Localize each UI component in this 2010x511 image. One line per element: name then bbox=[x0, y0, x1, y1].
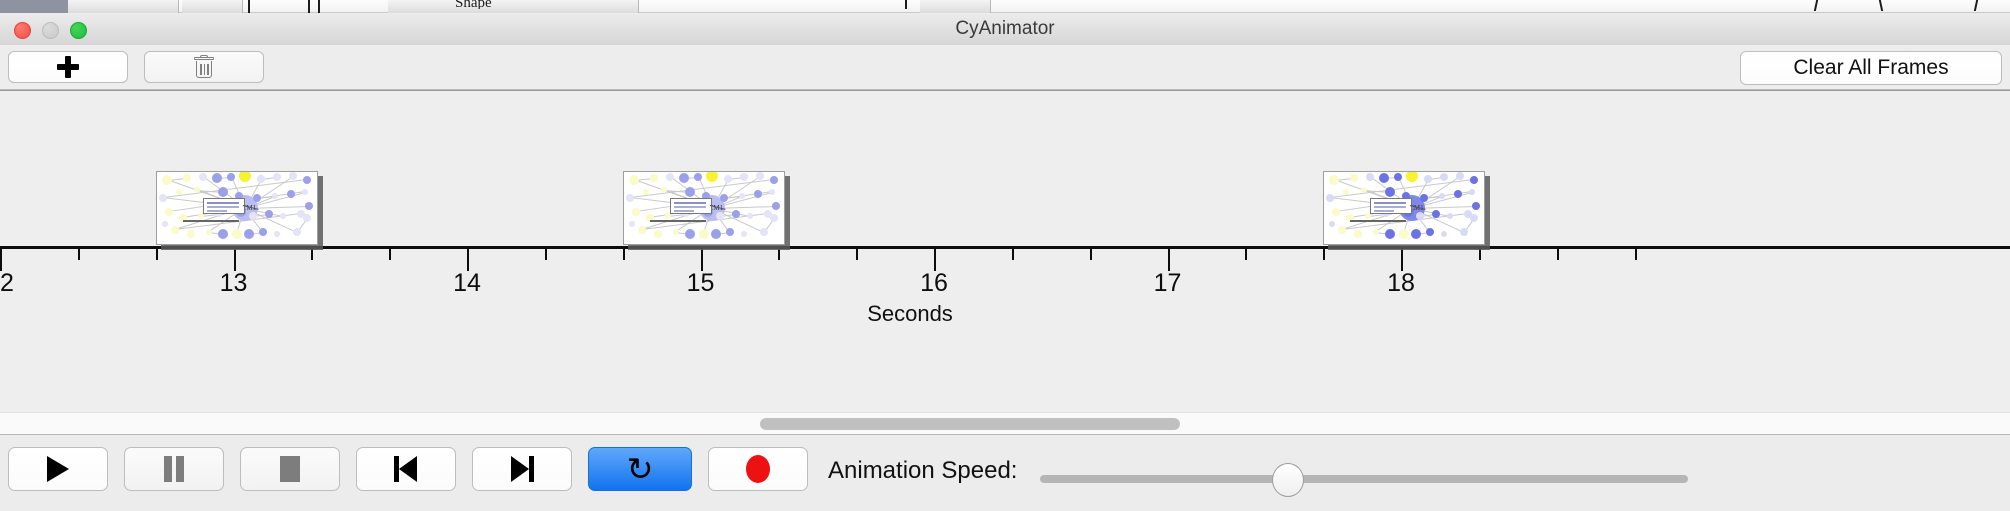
network-node bbox=[739, 193, 745, 199]
network-node bbox=[1440, 173, 1448, 181]
network-node bbox=[171, 226, 179, 234]
network-node bbox=[716, 212, 724, 220]
add-frame-button[interactable] bbox=[8, 51, 128, 83]
timeline-tick-minor bbox=[1479, 249, 1481, 260]
network-caption-line bbox=[650, 220, 706, 222]
network-node bbox=[232, 229, 242, 239]
network-node bbox=[194, 187, 200, 193]
network-node bbox=[1343, 189, 1349, 195]
network-node bbox=[747, 213, 753, 219]
background-window-cell-1 bbox=[68, 0, 179, 13]
background-window-tick-1 bbox=[248, 0, 250, 13]
network-node bbox=[187, 230, 195, 238]
background-window-gradient bbox=[0, 0, 2010, 13]
timeline-axis bbox=[0, 246, 2010, 249]
network-node bbox=[726, 228, 734, 236]
network-node bbox=[685, 187, 695, 197]
network-node bbox=[661, 187, 667, 193]
timeline-tick-minor bbox=[778, 249, 780, 260]
timeline-tick-minor bbox=[1012, 249, 1014, 260]
keyframe-thumbnail[interactable]: MCM1 bbox=[623, 171, 785, 245]
network-thumbnail-image: MCM1 bbox=[624, 172, 784, 244]
next-frame-button[interactable] bbox=[472, 447, 572, 491]
network-node bbox=[162, 221, 168, 227]
network-node bbox=[239, 171, 251, 182]
network-node bbox=[1426, 228, 1434, 236]
network-annotation-box bbox=[1370, 198, 1412, 214]
network-node bbox=[212, 173, 222, 183]
trash-icon bbox=[193, 55, 215, 79]
network-node bbox=[265, 210, 273, 218]
network-node bbox=[679, 173, 689, 183]
record-button[interactable] bbox=[708, 447, 808, 491]
timeline-tick-major bbox=[1168, 249, 1170, 271]
timeline-tick-minor bbox=[1323, 249, 1325, 260]
network-node bbox=[162, 175, 172, 185]
network-node bbox=[1332, 208, 1340, 216]
loop-button[interactable]: ↻ bbox=[588, 447, 692, 491]
timeline-tick-label: 17 bbox=[1154, 269, 1182, 298]
network-node bbox=[638, 226, 646, 234]
network-node bbox=[724, 175, 732, 183]
timeline-tick-minor bbox=[389, 249, 391, 260]
network-node bbox=[1379, 173, 1389, 183]
timeline-tick-minor bbox=[623, 249, 625, 260]
network-thumbnail-image: MCM1 bbox=[1324, 172, 1484, 244]
background-window-tick-3 bbox=[318, 0, 320, 13]
network-node bbox=[632, 208, 640, 216]
network-node bbox=[1470, 176, 1478, 184]
pause-icon bbox=[162, 456, 186, 482]
network-node bbox=[720, 194, 728, 202]
timeline-tick-major bbox=[701, 249, 703, 271]
network-node bbox=[302, 189, 308, 195]
network-node bbox=[629, 221, 635, 227]
network-node bbox=[218, 187, 228, 197]
loop-icon: ↻ bbox=[627, 453, 654, 485]
play-icon bbox=[47, 456, 69, 482]
clear-all-frames-button[interactable]: Clear All Frames bbox=[1740, 51, 2002, 85]
network-node bbox=[760, 228, 768, 236]
network-node bbox=[769, 189, 775, 195]
network-node bbox=[756, 172, 764, 180]
timeline-tick-minor bbox=[1090, 249, 1092, 260]
network-node bbox=[1406, 171, 1418, 182]
cyanimator-window: Shape CyAnimator Clear All Frames 121314… bbox=[0, 0, 2010, 510]
previous-frame-button[interactable] bbox=[356, 447, 456, 491]
network-node bbox=[218, 229, 228, 239]
skip-next-icon bbox=[509, 456, 535, 482]
timeline-tick-minor bbox=[545, 249, 547, 260]
timeline-tick-label: 13 bbox=[220, 269, 248, 298]
stop-icon bbox=[280, 456, 300, 482]
network-node bbox=[1338, 226, 1346, 234]
timeline-tick-label: 12 bbox=[0, 269, 14, 298]
network-node bbox=[159, 194, 167, 202]
network-node bbox=[1420, 194, 1428, 202]
timeline-tick-major bbox=[234, 249, 236, 271]
network-node bbox=[1329, 175, 1339, 185]
network-node bbox=[1326, 194, 1334, 202]
network-node bbox=[1366, 173, 1374, 181]
network-node bbox=[206, 229, 212, 235]
network-node bbox=[699, 229, 709, 239]
network-node bbox=[673, 229, 679, 235]
timeline-tick-major bbox=[1401, 249, 1403, 271]
network-node bbox=[1469, 189, 1475, 195]
network-node bbox=[257, 175, 265, 183]
record-icon bbox=[746, 455, 770, 483]
network-node bbox=[643, 189, 649, 195]
background-window-tick-2 bbox=[308, 0, 310, 13]
plus-icon bbox=[57, 56, 79, 78]
timeline-tick-minor bbox=[1635, 249, 1637, 260]
network-node bbox=[654, 230, 662, 238]
background-window-selected-row bbox=[0, 0, 68, 13]
timeline-tick-major bbox=[467, 249, 469, 271]
network-node bbox=[1454, 190, 1462, 198]
network-node bbox=[1472, 202, 1480, 210]
background-window-strip: Shape bbox=[0, 0, 2010, 13]
network-node bbox=[280, 213, 286, 219]
network-node bbox=[741, 231, 747, 237]
background-window-tick-4 bbox=[905, 0, 907, 9]
network-node bbox=[259, 228, 267, 236]
toolbar: Clear All Frames bbox=[0, 45, 2010, 90]
network-node bbox=[183, 174, 191, 182]
network-node bbox=[303, 214, 311, 222]
network-annotation-box bbox=[670, 198, 712, 214]
timeline-tick-minor bbox=[156, 249, 158, 260]
axis-title: Seconds bbox=[867, 301, 953, 327]
timeline-tick-label: 16 bbox=[920, 269, 948, 298]
network-node bbox=[1439, 193, 1445, 199]
timeline-tick-major bbox=[0, 249, 2, 271]
network-node bbox=[253, 194, 261, 202]
network-node bbox=[1399, 229, 1409, 239]
network-node bbox=[626, 194, 634, 202]
background-window-cell-4 bbox=[920, 0, 991, 13]
timeline-tick-minor bbox=[78, 249, 80, 260]
network-node bbox=[754, 190, 762, 198]
window-title: CyAnimator bbox=[0, 13, 2010, 45]
network-node bbox=[666, 173, 674, 181]
timeline-tick-label: 18 bbox=[1387, 269, 1415, 298]
network-node bbox=[694, 173, 702, 181]
network-node bbox=[273, 173, 281, 181]
network-node bbox=[711, 229, 721, 239]
network-node bbox=[249, 212, 257, 220]
network-node bbox=[1329, 221, 1335, 227]
background-window-label: Shape bbox=[455, 0, 492, 9]
network-node bbox=[1350, 174, 1358, 182]
network-node bbox=[303, 176, 311, 184]
scrollbar-thumb[interactable] bbox=[760, 418, 1180, 430]
network-node bbox=[770, 214, 778, 222]
network-node bbox=[1432, 210, 1440, 218]
network-node bbox=[650, 174, 658, 182]
network-node bbox=[274, 231, 280, 237]
stop-button[interactable] bbox=[240, 447, 340, 491]
network-node bbox=[685, 229, 695, 239]
animation-speed-label: Animation Speed: bbox=[828, 457, 1017, 485]
network-node bbox=[1354, 230, 1362, 238]
clear-all-frames-label: Clear All Frames bbox=[1793, 56, 1948, 80]
keyframe-thumbnail[interactable]: MCM1 bbox=[156, 171, 318, 245]
network-node bbox=[1447, 213, 1453, 219]
network-node bbox=[1411, 229, 1421, 239]
timeline-tick-minor bbox=[1557, 249, 1559, 260]
network-node bbox=[199, 173, 207, 181]
network-node bbox=[1373, 229, 1379, 235]
animation-speed-slider-track[interactable] bbox=[1040, 475, 1688, 483]
network-node bbox=[732, 210, 740, 218]
network-node bbox=[740, 173, 748, 181]
network-node bbox=[706, 171, 718, 182]
network-node bbox=[1424, 175, 1432, 183]
timeline-tick-minor bbox=[311, 249, 313, 260]
network-node bbox=[770, 176, 778, 184]
network-node bbox=[1470, 214, 1478, 222]
network-node bbox=[176, 189, 182, 195]
network-node bbox=[772, 202, 780, 210]
network-node bbox=[289, 172, 297, 180]
delete-frame-button[interactable] bbox=[144, 51, 264, 83]
network-thumbnail-image: MCM1 bbox=[157, 172, 317, 244]
network-node bbox=[165, 208, 173, 216]
network-node bbox=[629, 175, 639, 185]
timeline-tick-label: 15 bbox=[687, 269, 715, 298]
pause-button[interactable] bbox=[124, 447, 224, 491]
network-node bbox=[244, 229, 254, 239]
network-annotation-box bbox=[203, 198, 245, 214]
timeline-tick-minor bbox=[1245, 249, 1247, 260]
timeline-tick-major bbox=[934, 249, 936, 271]
timeline-tick-minor bbox=[856, 249, 858, 260]
skip-previous-icon bbox=[393, 456, 419, 482]
network-node bbox=[1385, 229, 1395, 239]
play-button[interactable] bbox=[8, 447, 108, 491]
keyframe-thumbnail[interactable]: MCM1 bbox=[1323, 171, 1485, 245]
network-node bbox=[1361, 187, 1367, 193]
timeline-panel[interactable]: 12131415161718 Seconds MCM1MCM1MCM1 bbox=[0, 90, 2010, 413]
network-node bbox=[227, 173, 235, 181]
network-node bbox=[1394, 173, 1402, 181]
timeline-tick-label: 14 bbox=[453, 269, 481, 298]
network-node bbox=[293, 228, 301, 236]
playback-control-bar: ↻ Animation Speed: bbox=[0, 434, 2010, 511]
network-caption-line bbox=[183, 220, 239, 222]
network-node bbox=[305, 202, 313, 210]
network-caption-line bbox=[1350, 220, 1406, 222]
network-node bbox=[272, 193, 278, 199]
network-node bbox=[1385, 187, 1395, 197]
animation-speed-slider-thumb[interactable] bbox=[1272, 463, 1304, 497]
network-node bbox=[1460, 228, 1468, 236]
background-window-cell-2 bbox=[182, 0, 243, 13]
network-node bbox=[1441, 231, 1447, 237]
network-node bbox=[1416, 212, 1424, 220]
network-node bbox=[287, 190, 295, 198]
background-window-cell-3 bbox=[388, 0, 639, 13]
network-node bbox=[1456, 172, 1464, 180]
